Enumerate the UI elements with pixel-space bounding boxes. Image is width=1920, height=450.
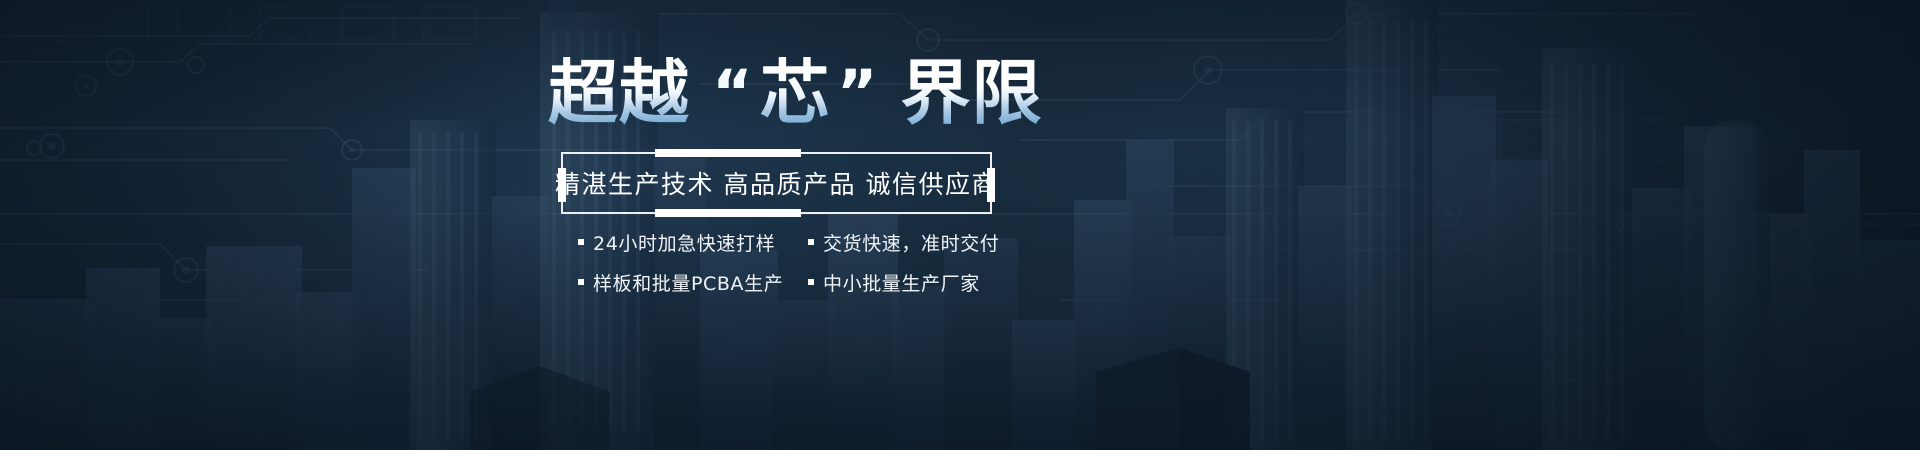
bullet-square-icon <box>808 279 814 285</box>
headline-part-2: 界限 <box>901 55 1043 131</box>
feature-list: 24小时加急快速打样 交货快速，准时交付 样板和批量PCBA生产 中小批量生产厂… <box>578 222 998 302</box>
quote-open-icon: “ <box>706 55 760 131</box>
feature-label: 样板和批量PCBA生产 <box>593 269 783 296</box>
feature-label: 24小时加急快速打样 <box>593 229 775 256</box>
banner-subtitle: 精湛生产技术 高品质产品 诚信供应商 <box>563 154 990 212</box>
headline-part-1: 超越 <box>548 55 690 131</box>
feature-item: 中小批量生产厂家 <box>808 269 998 296</box>
bullet-square-icon <box>808 239 814 245</box>
bullet-square-icon <box>578 279 584 285</box>
feature-item: 交货快速，准时交付 <box>808 229 998 256</box>
banner-content: 超越 “ 芯 ” 界限 精湛生产技术 高品质产品 诚信供应商 24小时加急快速打… <box>0 0 1920 450</box>
feature-item: 24小时加急快速打样 <box>578 229 808 256</box>
bullet-square-icon <box>578 239 584 245</box>
quote-close-icon: ” <box>831 55 885 131</box>
hero-banner: 超越 “ 芯 ” 界限 精湛生产技术 高品质产品 诚信供应商 24小时加急快速打… <box>0 0 1920 450</box>
banner-headline: 超越 “ 芯 ” 界限 <box>548 55 1043 131</box>
feature-label: 中小批量生产厂家 <box>823 269 980 296</box>
feature-label: 交货快速，准时交付 <box>823 229 999 256</box>
subtitle-frame: 精湛生产技术 高品质产品 诚信供应商 <box>561 152 992 214</box>
feature-item: 样板和批量PCBA生产 <box>578 269 808 296</box>
headline-keyword: 芯 <box>760 55 831 131</box>
